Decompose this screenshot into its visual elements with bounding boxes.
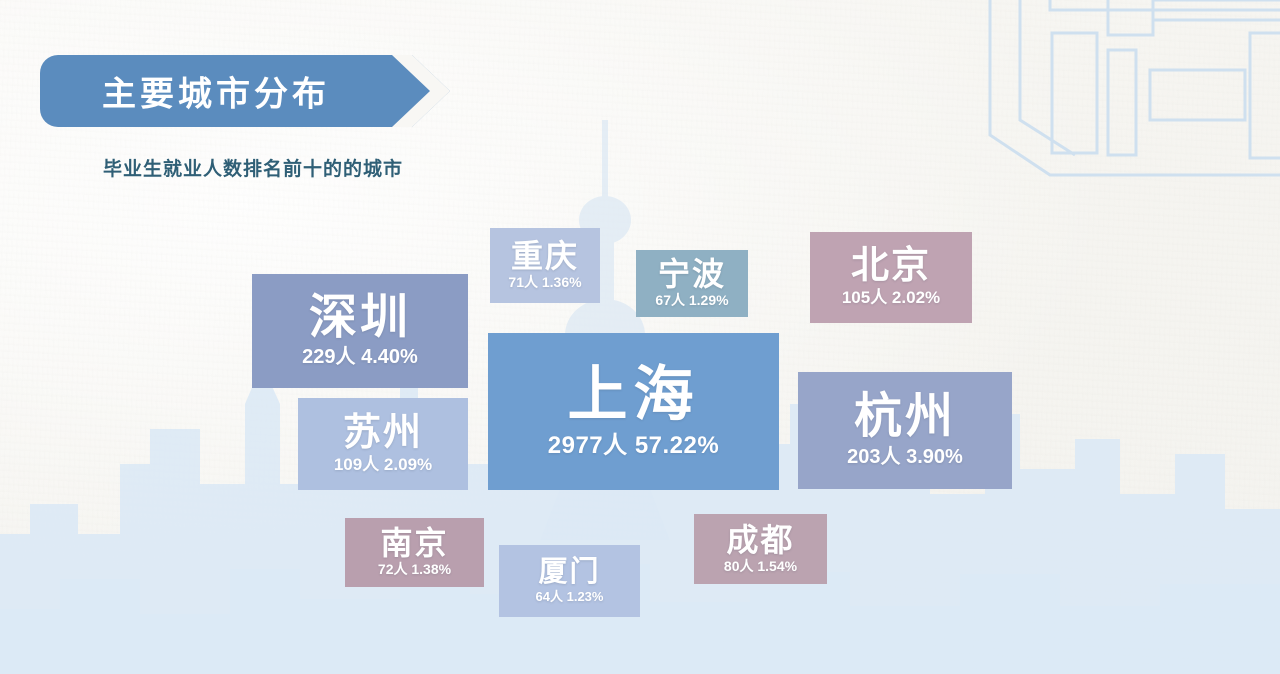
city-stat-label: 64人 1.23% [536,590,604,604]
city-stat-label: 109人 2.09% [334,456,432,475]
city-tile-hangzhou[interactable]: 杭州203人 3.90% [798,372,1012,489]
city-tile-chongqing[interactable]: 重庆71人 1.36% [490,228,600,303]
city-name-label: 重庆 [511,240,579,273]
city-name-label: 上海 [568,364,700,425]
city-name-label: 杭州 [854,393,956,442]
city-tile-nanjing[interactable]: 南京72人 1.38% [345,518,484,587]
city-stat-label: 80人 1.54% [724,559,797,574]
city-tile-shanghai[interactable]: 上海2977人 57.22% [488,333,779,490]
page-subtitle: 毕业生就业人数排名前十的的城市 [103,154,403,181]
city-name-label: 南京 [380,527,448,560]
city-stat-label: 67人 1.29% [655,293,728,308]
city-name-label: 深圳 [309,294,411,343]
title-banner: 主要城市分布 [40,55,450,127]
city-tile-ningbo[interactable]: 宁波67人 1.29% [636,250,748,317]
city-stat-label: 105人 2.02% [842,289,940,308]
slide-canvas: 主要城市分布 毕业生就业人数排名前十的的城市 上海2977人 57.22%深圳2… [0,0,1280,674]
city-tile-xiamen[interactable]: 厦门64人 1.23% [499,545,640,617]
city-name-label: 宁波 [658,258,726,291]
city-tile-suzhou[interactable]: 苏州109人 2.09% [298,398,468,490]
city-stat-label: 229人 4.40% [302,346,418,368]
city-tile-chengdu[interactable]: 成都80人 1.54% [694,514,827,584]
city-stat-label: 2977人 57.22% [548,433,719,459]
city-stat-label: 71人 1.36% [508,275,581,290]
city-tile-beijing[interactable]: 北京105人 2.02% [810,232,972,323]
city-tile-shenzhen[interactable]: 深圳229人 4.40% [252,274,468,388]
city-stat-label: 203人 3.90% [847,446,963,468]
page-title: 主要城市分布 [102,67,330,116]
blueprint-outline-decoration [980,0,1280,210]
city-name-label: 成都 [726,524,794,557]
city-name-label: 北京 [851,247,931,286]
city-stat-label: 72人 1.38% [378,562,451,577]
city-name-label: 苏州 [343,414,423,453]
city-name-label: 厦门 [538,558,600,588]
